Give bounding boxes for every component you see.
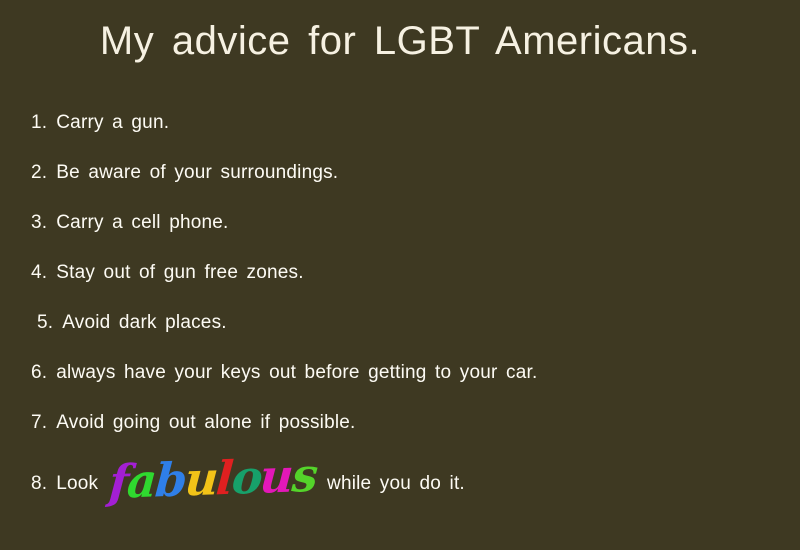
list-item-fabulous: 8. Look fabulous while you do it. xyxy=(31,462,465,506)
list-item-text: Avoid dark places. xyxy=(62,312,227,334)
rainbow-fabulous-word: fabulous xyxy=(109,452,317,505)
fabulous-letter: u xyxy=(184,455,219,502)
list-item-text: Carry a cell phone. xyxy=(56,212,228,234)
fabulous-letter: o xyxy=(230,454,262,501)
list-item: 7. Avoid going out alone if possible. xyxy=(31,412,356,438)
list-item: 6. always have your keys out before gett… xyxy=(31,362,537,388)
fabulous-letter: u xyxy=(259,453,294,500)
list-item-text: Avoid going out alone if possible. xyxy=(56,412,355,434)
list-item-number: 2. xyxy=(31,162,47,184)
list-item-number: 4. xyxy=(31,262,47,284)
fabulous-letter: b xyxy=(153,456,186,503)
list-item-number: 3. xyxy=(31,212,47,234)
list-item-text: Stay out of gun free zones. xyxy=(56,262,304,284)
list-item-text: Carry a gun. xyxy=(56,112,169,134)
page-title: My advice for LGBT Americans. xyxy=(0,17,800,65)
list-item-text: Be aware of your surroundings. xyxy=(56,162,338,184)
list-item: 5. Avoid dark places. xyxy=(37,312,227,338)
list-item-number: 7. xyxy=(31,412,47,434)
list-item: 1. Carry a gun. xyxy=(31,112,169,138)
list-item: 3. Carry a cell phone. xyxy=(31,212,229,238)
list-item: 2. Be aware of your surroundings. xyxy=(31,162,338,188)
list-item: 4. Stay out of gun free zones. xyxy=(31,262,304,288)
list-item-number: 1. xyxy=(31,112,47,134)
list-item-number: 8. xyxy=(31,473,47,495)
list-item-lead-text: Look xyxy=(56,473,98,495)
fabulous-letter: s xyxy=(291,452,318,499)
fabulous-letter: a xyxy=(126,457,157,504)
list-item-text: always have your keys out before getting… xyxy=(56,362,537,384)
list-item-number: 5. xyxy=(37,312,53,334)
list-item-number: 6. xyxy=(31,362,47,384)
slide-canvas: My advice for LGBT Americans. 1. Carry a… xyxy=(0,0,800,550)
list-item-tail-text: while you do it. xyxy=(327,473,465,495)
